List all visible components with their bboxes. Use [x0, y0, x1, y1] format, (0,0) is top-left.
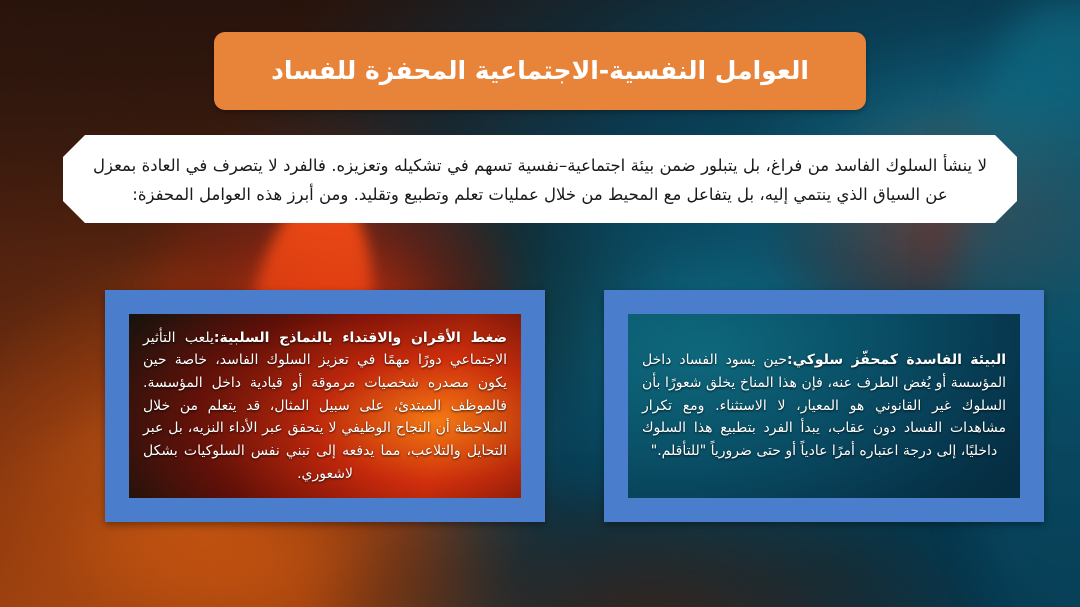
slide-title: العوامل النفسية-الاجتماعية المحفزة للفسا…	[271, 55, 809, 86]
content-card-peer-pressure-text: ضغط الأقران والاقتداء بالنماذج السلبية:ي…	[143, 327, 507, 486]
content-card-peer-pressure-body: يلعب التأثير الاجتماعي دورًا مهمًا في تع…	[143, 330, 507, 482]
content-card-peer-pressure: ضغط الأقران والاقتداء بالنماذج السلبية:ي…	[105, 290, 545, 522]
content-card-corrupt-environment-text: البيئة الفاسدة كمحفّز سلوكي:حين يسود الف…	[642, 349, 1006, 462]
presentation-slide: العوامل النفسية-الاجتماعية المحفزة للفسا…	[0, 0, 1080, 607]
content-card-corrupt-environment: البيئة الفاسدة كمحفّز سلوكي:حين يسود الف…	[604, 290, 1044, 522]
intro-paragraph: لا ينشأ السلوك الفاسد من فراغ، بل يتبلور…	[93, 152, 987, 210]
content-card-corrupt-environment-body: حين يسود الفساد داخل المؤسسة أو يُغض الط…	[642, 352, 1006, 459]
intro-text-box: لا ينشأ السلوك الفاسد من فراغ، بل يتبلور…	[63, 135, 1017, 223]
slide-title-bar: العوامل النفسية-الاجتماعية المحفزة للفسا…	[214, 32, 866, 110]
content-card-corrupt-environment-panel: البيئة الفاسدة كمحفّز سلوكي:حين يسود الف…	[628, 314, 1020, 498]
content-card-peer-pressure-panel: ضغط الأقران والاقتداء بالنماذج السلبية:ي…	[129, 314, 521, 498]
content-card-corrupt-environment-heading: البيئة الفاسدة كمحفّز سلوكي:	[787, 352, 1006, 368]
content-card-peer-pressure-heading: ضغط الأقران والاقتداء بالنماذج السلبية:	[214, 330, 507, 346]
